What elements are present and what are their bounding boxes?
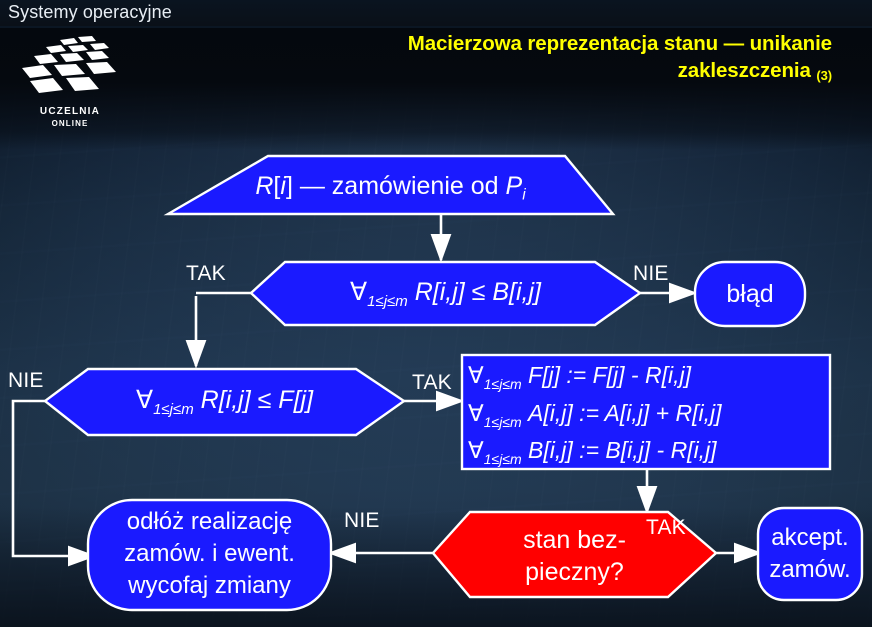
edge-label-tak-3: TAK [646, 516, 686, 540]
edge-label-nie-3: NIE [344, 509, 380, 533]
flowchart [0, 0, 872, 627]
edge-label-nie-1: NIE [633, 262, 669, 286]
node-process-update-matrices[interactable] [462, 355, 830, 469]
node-error[interactable] [695, 262, 805, 326]
node-defer-request[interactable] [88, 500, 331, 610]
node-decision-request-le-b[interactable] [251, 262, 640, 325]
slide-canvas: Systemy operacyjne UCZELNIA ONLINE [0, 0, 872, 627]
node-input-request[interactable] [168, 156, 613, 214]
node-accept-request[interactable] [758, 508, 862, 600]
edge-label-tak-2: TAK [412, 371, 452, 395]
edge-label-nie-2: NIE [8, 369, 44, 393]
edge-label-tak-1: TAK [186, 262, 226, 286]
node-decision-request-le-f[interactable] [45, 369, 404, 435]
